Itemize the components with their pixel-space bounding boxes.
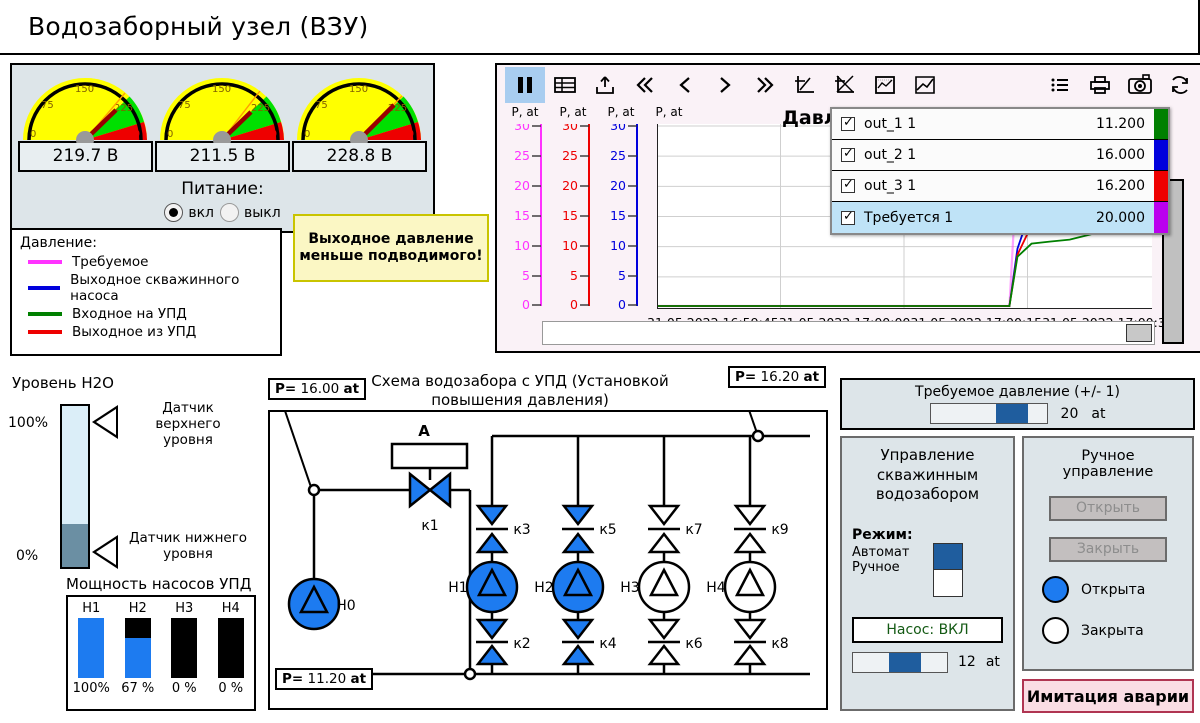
svg-text:225: 225 [251,103,270,114]
legend-swatch-pump-out [28,286,60,290]
axis-title-2: P, at [553,105,593,119]
svg-text:25: 25 [562,148,578,163]
pump-power-value: 67 % [117,681,159,696]
pump-power-bar [218,618,244,678]
y-axis-required: 302520 15105 0 [501,124,547,309]
legend-series-value: 16.000 [1096,147,1154,163]
svg-text:300: 300 [121,129,140,140]
pump-power-title: Мощность насосов УПД [66,575,251,593]
axis-scale-icon[interactable] [785,67,825,103]
scrollbar-thumb[interactable] [1126,324,1152,342]
warning-line-2: меньше подводимого! [299,248,482,266]
voltage-value-3: 228.8 В [292,141,427,172]
legend-series-value: 20.000 [1096,210,1154,226]
svg-text:150: 150 [75,84,94,95]
page-title: Водозаборный узел (ВЗУ) [0,12,368,41]
upper-level-sensor-label: Датчик верхнего уровня [128,400,248,449]
voltage-gauge-1: 0 75 150 225 300 219.7 В [18,70,153,172]
legend-series-color [1154,202,1168,233]
svg-text:к8: к8 [771,636,788,652]
svg-text:10: 10 [514,238,530,253]
svg-text:300: 300 [395,129,414,140]
well-control-header: Управление скважинным водозабором [852,446,1003,505]
svg-text:к9: к9 [771,522,788,538]
svg-text:300: 300 [258,129,277,140]
slider-thumb[interactable] [996,404,1028,423]
chart-style-icon[interactable] [865,67,905,103]
voltage-value-1: 219.7 В [18,141,153,172]
pump-power-bar [171,618,197,678]
legend-swatch-upd-out [28,330,62,334]
well-pressure-slider[interactable] [852,652,948,673]
pump-power-bar [78,618,104,678]
pump-power-value: 100% [70,681,112,696]
svg-text:150: 150 [349,84,368,95]
svg-text:75: 75 [178,100,191,111]
svg-text:0: 0 [304,129,310,140]
svg-text:к1: к1 [421,518,438,534]
svg-text:30: 30 [562,124,578,133]
svg-text:75: 75 [41,100,54,111]
legend-row-required[interactable]: Требуется 1 20.000 [832,202,1168,233]
legend-checkbox-icon[interactable] [841,211,855,225]
chart-toolbar [497,65,1200,105]
table-icon[interactable] [545,67,585,103]
chart-trend-icon[interactable] [905,67,945,103]
legend-series-color [1154,140,1168,170]
legend-item: Требуемое [28,254,280,270]
valve-closed-label: Закрыта [1081,623,1144,639]
y-axis-pump-out: 302520 15105 0 [597,124,643,309]
radio-off-icon[interactable] [220,203,239,222]
legend-series-name: Требуется 1 [864,210,1096,226]
legend-row-out2[interactable]: out_2 1 16.000 [832,140,1168,171]
required-pressure-slider[interactable] [930,403,1048,424]
svg-text:0: 0 [30,129,36,140]
legend-series-name: out_1 1 [864,116,1096,132]
legend-checkbox-icon[interactable] [841,148,855,162]
pressure-tag-inlet: P= 16.00 at [268,378,366,400]
mode-auto-label: Автомат [852,545,909,560]
pump-power-name: H4 [210,601,252,616]
voltage-value-2: 211.5 В [155,141,290,172]
axis-title-3: P, at [601,105,641,119]
close-valve-button[interactable]: Закрыть [1049,537,1167,562]
pressure-tag-outlet: P= 16.20 at [728,366,826,388]
legend-series-value: 16.200 [1096,178,1154,194]
required-pressure-label: Требуемое давление (+/- 1) [915,384,1120,400]
list-icon[interactable] [1040,67,1080,103]
legend-series-color [1154,171,1168,201]
schematic-title: Схема водозабора с УПД (Установкой повыш… [355,372,685,410]
simulate-alarm-button[interactable]: Имитация аварии [1022,679,1194,713]
camera-icon[interactable] [1120,67,1160,103]
voltage-gauge-3: 0 75 150 225 300 228.8 В [292,70,427,172]
pump-power-name: H1 [70,601,112,616]
pump-power-cell-h4: H4 0 % [210,601,252,696]
manual-control-panel: Ручное управление Открыть Закрыть Открыт… [1022,436,1194,671]
water-intake-schematic: A к1 H0 к3 H1 к2 [268,410,828,710]
upper-level-sensor-icon [92,405,118,439]
pause-icon[interactable] [505,67,545,103]
chart-horizontal-scrollbar[interactable] [542,321,1155,345]
power-radio-on[interactable]: вкл [164,203,214,222]
water-level-fill [62,524,88,567]
svg-text:0: 0 [570,297,578,309]
next-icon[interactable] [705,67,745,103]
power-radio-off[interactable]: выкл [220,203,281,222]
svg-text:к3: к3 [513,522,530,538]
slider-thumb[interactable] [889,653,921,672]
trend-chart-panel: P, at P, at P, at P, at 302520 15105 0 [495,63,1200,353]
well-control-panel: Управление скважинным водозабором Режим:… [840,436,1015,711]
water-level-title: Уровень H2O [12,374,114,392]
svg-text:0: 0 [522,297,530,309]
svg-text:к5: к5 [599,522,616,538]
gauge-dial-icon: 0 75 150 225 300 [19,70,152,143]
legend-series-value: 11.200 [1096,116,1154,132]
valve-state-open: Открыта [1034,576,1182,603]
svg-text:20: 20 [514,178,530,193]
warning-banner: Выходное давление меньше подводимого! [293,214,489,282]
legend-checkbox-icon[interactable] [841,117,855,131]
axis-title-4: P, at [649,105,689,119]
svg-text:20: 20 [610,178,626,193]
voltage-gauges-panel: 0 75 150 225 300 219.7 В 0 75 150 225 [10,63,435,233]
mode-header: Режим: [852,527,1003,543]
chart-legend-popup[interactable]: out_1 1 11.200 out_2 1 16.000 out_3 1 16… [830,107,1170,235]
pump-power-name: H2 [117,601,159,616]
pump-power-value: 0 % [210,681,252,696]
pressure-legend-panel: Давление: Требуемое Выходное скважинного… [10,228,282,356]
legend-row-out1[interactable]: out_1 1 11.200 [832,109,1168,140]
valve-closed-indicator-icon [1042,617,1069,644]
legend-label: Выходное из УПД [72,324,196,340]
open-valve-button[interactable]: Открыть [1049,496,1167,521]
required-pressure-value: 20 [1061,406,1079,422]
window-title-bar: Водозаборный узел (ВЗУ) [0,0,1200,55]
svg-text:к7: к7 [685,522,702,538]
pump-status-indicator: Насос: ВКЛ [852,617,1003,643]
legend-item: Выходное из УПД [28,324,280,340]
svg-text:0: 0 [167,129,173,140]
gauge-dial-icon: 0 75 150 225 300 [293,70,426,143]
legend-series-name: out_2 1 [864,147,1096,163]
legend-row-out3[interactable]: out_3 1 16.200 [832,171,1168,202]
mode-manual-label: Ручное [852,560,909,575]
svg-text:10: 10 [610,238,626,253]
power-radio-off-label: выкл [244,205,281,221]
svg-text:к2: к2 [513,636,530,652]
well-slider-value: 12 [958,654,976,670]
prev-icon[interactable] [665,67,705,103]
well-slider-unit: at [986,654,1000,670]
legend-swatch-upd-in [28,312,62,316]
svg-text:20: 20 [562,178,578,193]
valve-state-closed: Закрыта [1034,617,1182,644]
legend-item: Входное на УПД [28,306,280,322]
water-level-bottom-label: 0% [16,548,38,564]
valve-open-indicator-icon [1042,576,1069,603]
pump-power-bar [125,618,151,678]
legend-checkbox-icon[interactable] [841,179,855,193]
pressure-legend-header: Давление: [20,235,280,251]
legend-label: Входное на УПД [72,306,187,322]
svg-text:A: A [418,422,430,440]
svg-text:0: 0 [618,297,626,309]
y-axis-upd-out: 302520 15105 0 [549,124,595,309]
well-slider-row: 12 at [852,652,1003,673]
svg-text:5: 5 [522,268,530,283]
pump-power-fill [78,618,104,678]
print-icon[interactable] [1080,67,1120,103]
warning-line-1: Выходное давление [308,231,473,249]
valve-open-label: Открыта [1081,582,1145,598]
pump-power-cell-h1: H1 100% [70,601,112,696]
svg-text:5: 5 [618,268,626,283]
svg-text:15: 15 [562,208,578,223]
svg-text:к6: к6 [685,636,702,652]
required-pressure-slider-row: 20 at [930,403,1106,424]
schematic-svg: A к1 H0 к3 H1 к2 [270,412,826,708]
required-pressure-unit: at [1091,406,1105,422]
pump-power-cell-h3: H3 0 % [163,601,205,696]
pump-power-fill [125,638,151,678]
svg-text:15: 15 [610,208,626,223]
svg-text:150: 150 [212,84,231,95]
export-icon[interactable] [585,67,625,103]
svg-text:30: 30 [514,124,530,133]
svg-text:H4: H4 [706,580,726,596]
svg-text:H2: H2 [534,580,553,596]
legend-series-color [1154,109,1168,139]
voltage-gauge-2: 0 75 150 225 300 211.5 В [155,70,290,172]
water-level-top-label: 100% [8,415,48,431]
legend-label: Выходное скважинного насоса [70,272,280,304]
legend-series-name: out_3 1 [864,178,1096,194]
lower-level-sensor-icon [92,535,118,569]
first-icon[interactable] [625,67,665,103]
refresh-icon[interactable] [1160,67,1200,103]
axis-title-1: P, at [505,105,545,119]
required-pressure-panel: Требуемое давление (+/- 1) 20 at [840,378,1195,430]
gauge-dial-icon: 0 75 150 225 300 [156,70,289,143]
mode-manual-toggle[interactable] [933,570,963,597]
svg-text:5: 5 [570,268,578,283]
radio-on-icon[interactable] [164,203,183,222]
water-level-tank [60,404,90,569]
svg-text:к4: к4 [599,636,616,652]
power-radio-on-label: вкл [188,205,214,221]
gauge-row: 0 75 150 225 300 219.7 В 0 75 150 225 [12,65,433,172]
svg-text:H3: H3 [620,580,639,596]
svg-text:15: 15 [514,208,530,223]
last-icon[interactable] [745,67,785,103]
pump-power-value: 0 % [163,681,205,696]
legend-swatch-required [28,260,62,264]
svg-text:25: 25 [514,148,530,163]
svg-text:10: 10 [562,238,578,253]
svg-text:30: 30 [610,124,626,133]
svg-text:75: 75 [315,100,328,111]
pump-power-panel: H1 100% H2 67 % H3 0 % H4 0 % [66,595,256,711]
pump-power-cell-h2: H2 67 % [117,601,159,696]
pressure-tag-bottom: P= 11.20 at [275,668,373,690]
power-section-label: Питание: [12,179,433,199]
axis-hide-icon[interactable] [825,67,865,103]
pump-power-name: H3 [163,601,205,616]
legend-item: Выходное скважинного насоса [28,272,280,304]
manual-control-header: Ручное управление [1034,448,1182,480]
mode-auto-toggle[interactable] [933,543,963,570]
svg-text:225: 225 [114,103,133,114]
svg-text:H0: H0 [336,598,355,614]
lower-level-sensor-label: Датчик нижнего уровня [128,530,248,562]
svg-text:25: 25 [610,148,626,163]
legend-label: Требуемое [72,254,149,270]
svg-text:H1: H1 [448,580,467,596]
